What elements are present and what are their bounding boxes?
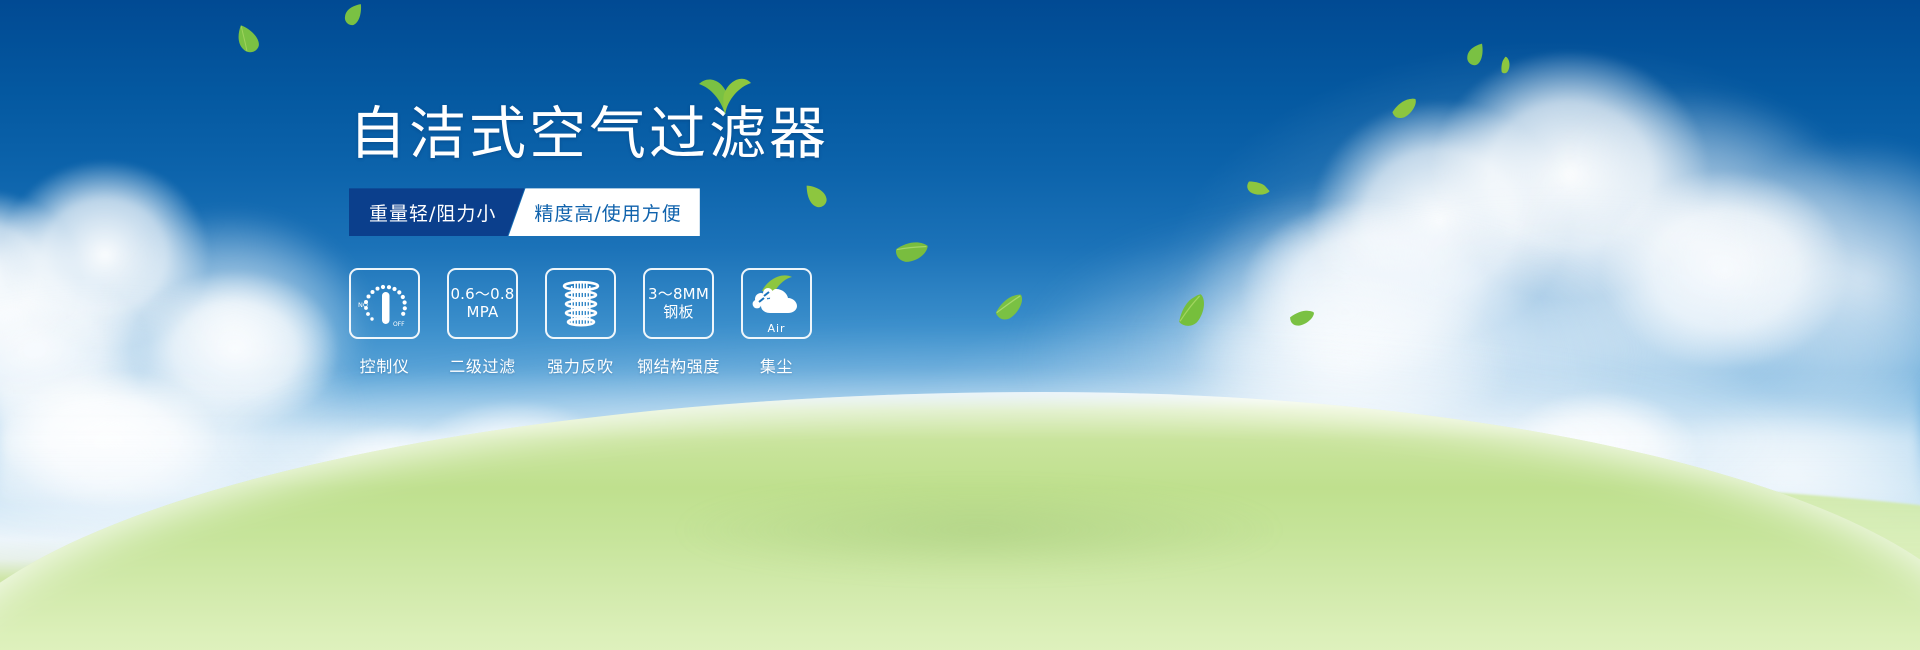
feature-list: NO OFF 控制仪 0.6～0.8 MPA 二级过滤 (349, 268, 909, 377)
feature-box-steel: 3～8MM 钢板 (643, 268, 714, 339)
page-title: 自洁式空气过滤器 (349, 104, 829, 164)
sprout-leaf-icon (697, 76, 753, 120)
feature-item-control[interactable]: NO OFF 控制仪 (349, 268, 420, 377)
pressure-value-line1: 0.6～0.8 (450, 286, 514, 304)
leaf-icon (993, 293, 1028, 322)
feature-item-dust[interactable]: Air 集尘 (741, 268, 812, 377)
leaf-icon (1497, 56, 1515, 75)
feature-label-steel: 钢结构强度 (623, 353, 734, 377)
feature-box-pressure: 0.6～0.8 MPA (447, 268, 518, 339)
leaf-icon (1391, 98, 1420, 120)
blowback-filter-icon (556, 278, 606, 330)
leaf-icon (340, 0, 369, 29)
ground-shadow (576, 470, 1382, 590)
tag-lightweight-lowresistance[interactable]: 重量轻/阻力小 (349, 188, 524, 236)
hero-banner: 自洁式空气过滤器 重量轻/阻力小 精度高/使用方便 (0, 0, 1920, 650)
feature-label-dust: 集尘 (741, 353, 812, 377)
tag-row: 重量轻/阻力小 精度高/使用方便 (349, 188, 669, 236)
banner-content: 自洁式空气过滤器 重量轻/阻力小 精度高/使用方便 (349, 104, 909, 377)
headline-wrap: 自洁式空气过滤器 (349, 104, 829, 164)
tag-highprecision-easyuse[interactable]: 精度高/使用方便 (508, 188, 699, 236)
dust-cloud-icon (748, 275, 806, 321)
leaf-icon (1462, 39, 1490, 69)
steel-value-line1: 3～8MM (648, 286, 709, 304)
leaf-icon (231, 21, 263, 57)
feature-item-steel[interactable]: 3～8MM 钢板 钢结构强度 (643, 268, 714, 377)
feature-item-blowback[interactable]: 强力反吹 (545, 268, 616, 377)
leaf-icon (1244, 175, 1271, 202)
feature-box-blowback (545, 268, 616, 339)
feature-item-pressure[interactable]: 0.6～0.8 MPA 二级过滤 (447, 268, 518, 377)
feature-label-blowback: 强力反吹 (545, 353, 616, 377)
pressure-value-line2: MPA (467, 304, 499, 322)
leaf-icon (1289, 308, 1315, 328)
steel-value-line2: 钢板 (663, 304, 693, 322)
feature-label-control: 控制仪 (349, 353, 420, 377)
gauge-label-no: NO (358, 301, 368, 309)
control-gauge-icon: NO OFF (355, 276, 415, 332)
feature-label-pressure: 二级过滤 (447, 353, 518, 377)
feature-box-dust: Air (741, 268, 812, 339)
leaf-icon (1172, 293, 1214, 331)
dust-air-caption: Air (767, 322, 785, 335)
feature-box-control: NO OFF (349, 268, 420, 339)
gauge-label-off: OFF (393, 321, 405, 328)
